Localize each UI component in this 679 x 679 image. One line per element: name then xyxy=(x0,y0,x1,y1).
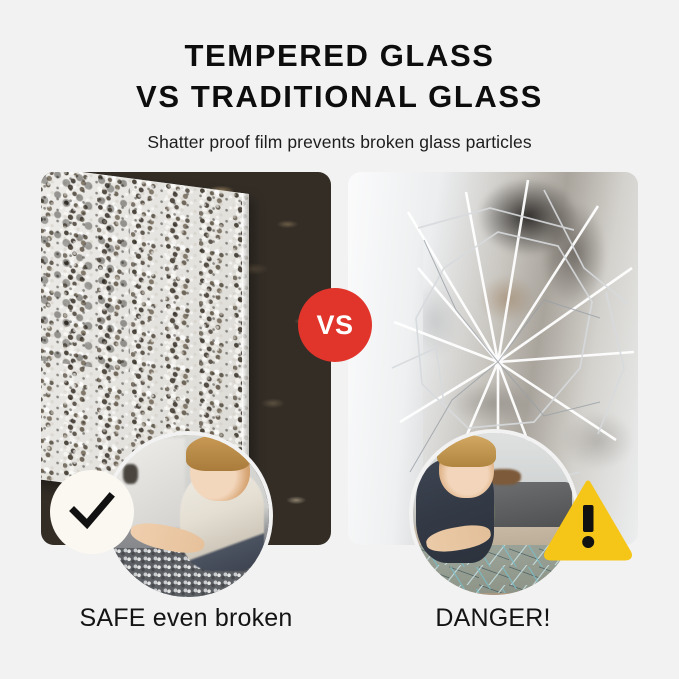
child-hair xyxy=(437,435,495,467)
page-subtitle: Shatter proof film prevents broken glass… xyxy=(0,118,679,153)
captions: SAFE even broken DANGER! xyxy=(41,604,638,648)
vs-badge: VS xyxy=(298,288,372,362)
danger-status-badge xyxy=(544,478,632,562)
title-line-2: VS TRADITIONAL GLASS xyxy=(0,77,679,118)
child-hair xyxy=(186,435,251,471)
vs-badge-label: VS xyxy=(316,310,353,341)
title-line-1: TEMPERED GLASS xyxy=(0,36,679,77)
dense-shatter-zone xyxy=(41,172,131,372)
caption-safe: SAFE even broken xyxy=(41,604,331,633)
safe-status-badge xyxy=(50,470,134,554)
page-title: TEMPERED GLASS VS TRADITIONAL GLASS xyxy=(0,0,679,118)
caption-danger: DANGER! xyxy=(348,604,638,633)
header: TEMPERED GLASS VS TRADITIONAL GLASS Shat… xyxy=(0,0,679,153)
warning-triangle-icon xyxy=(544,478,632,562)
check-icon xyxy=(69,492,115,532)
